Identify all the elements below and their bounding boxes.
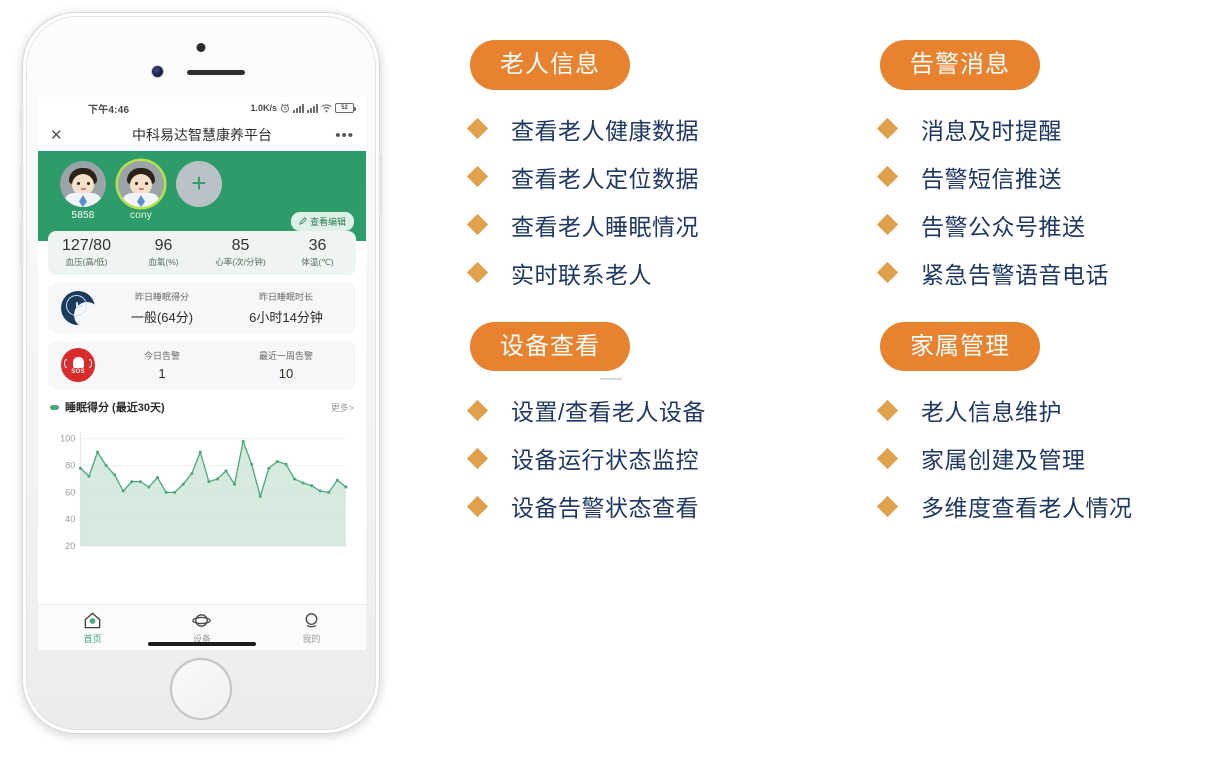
section-title-pill: 家属管理 xyxy=(880,322,1040,372)
section-title-pill: 设备查看 xyxy=(470,322,630,372)
list-item: 设备告警状态查看 xyxy=(470,489,880,523)
avatar xyxy=(60,161,106,207)
list-item-label: 实时联系老人 xyxy=(511,256,652,290)
section-family-management: 家属管理 老人信息维护 家属创建及管理 多维度查看老人情况 xyxy=(880,322,1205,538)
status-time: 下午4:46 xyxy=(88,101,129,116)
list-item: 消息及时提醒 xyxy=(880,112,1205,146)
avatar xyxy=(118,161,164,207)
list-item-label: 设置/查看老人设备 xyxy=(511,393,706,427)
diamond-bullet-icon xyxy=(467,166,488,187)
app-title: 中科易达智慧康养平台 xyxy=(38,125,366,145)
avatar-item[interactable]: 5858 xyxy=(60,161,106,221)
feature-row-bottom: 设备查看 设置/查看老人设备 设备运行状态监控 设备告警状态查看 家属管理 老人… xyxy=(470,322,1205,538)
home-indicator xyxy=(148,642,256,646)
list-item-label: 告警公众号推送 xyxy=(921,208,1086,242)
svg-text:40: 40 xyxy=(65,514,75,524)
vital-value: 127/80 xyxy=(48,237,125,255)
vital-blood-pressure: 127/80 血压(高/低) xyxy=(48,237,125,268)
feature-sections: 老人信息 查看老人健康数据 查看老人定位数据 查看老人睡眠情况 实时联系老人 告… xyxy=(470,40,1205,537)
view-edit-label: 查看编辑 xyxy=(310,215,346,228)
app-navbar: ✕ 中科易达智慧康养平台 ••• xyxy=(38,119,366,151)
diamond-bullet-icon xyxy=(877,214,898,235)
status-bar: 下午4:46 1.0K/s 52 xyxy=(38,97,366,119)
diamond-bullet-icon xyxy=(467,448,488,469)
phone-volume-down-button xyxy=(20,221,24,267)
alarm-summary-card[interactable]: SOS 今日告警 1 最近一周告警 10 xyxy=(48,341,356,389)
phone-power-button xyxy=(378,153,382,215)
sleep-summary-card[interactable]: 昨日睡眠得分 一般(64分) 昨日睡眠时长 6小时14分钟 xyxy=(48,283,356,333)
list-item-label: 老人信息维护 xyxy=(921,393,1062,427)
list-item-label: 查看老人健康数据 xyxy=(511,112,699,146)
diamond-bullet-icon xyxy=(877,166,898,187)
list-item: 实时联系老人 xyxy=(470,256,880,290)
diamond-bullet-icon xyxy=(467,400,488,421)
list-item: 查看老人睡眠情况 xyxy=(470,208,880,242)
profile-icon xyxy=(257,611,366,631)
home-icon xyxy=(38,611,147,631)
list-item-label: 紧急告警语音电话 xyxy=(921,256,1109,290)
phone-screen: 下午4:46 1.0K/s 52 ✕ 中科易达智慧康养平台 xyxy=(38,97,366,650)
feature-row-top: 老人信息 查看老人健康数据 查看老人定位数据 查看老人睡眠情况 实时联系老人 告… xyxy=(470,40,1205,304)
section-elder-info: 老人信息 查看老人健康数据 查看老人定位数据 查看老人睡眠情况 实时联系老人 xyxy=(470,40,880,304)
vital-blood-oxygen: 96 血氧(%) xyxy=(125,237,202,268)
battery-level-label: 52 xyxy=(341,105,348,111)
diamond-bullet-icon xyxy=(877,496,898,517)
wifi-icon xyxy=(321,103,332,113)
vital-label: 血氧(%) xyxy=(125,256,202,268)
tab-home[interactable]: 首页 xyxy=(38,611,147,645)
profile-header: 5858 cony + 查看编辑 xyxy=(38,151,366,241)
more-options-icon[interactable]: ••• xyxy=(335,127,354,144)
section-title-pill: 老人信息 xyxy=(470,40,630,90)
vital-label: 心率(次/分钟) xyxy=(202,256,279,268)
section-alarm-message: 告警消息 消息及时提醒 告警短信推送 告警公众号推送 紧急告警语音电话 xyxy=(880,40,1205,304)
section-bullets: 消息及时提醒 告警短信推送 告警公众号推送 紧急告警语音电话 xyxy=(880,112,1205,290)
sleep-score-chart: 10080604020 xyxy=(48,420,356,552)
sleep-score-value: 一般(64分) xyxy=(100,307,224,326)
add-elder-button[interactable]: + xyxy=(176,161,222,207)
list-item-label: 消息及时提醒 xyxy=(921,112,1062,146)
sleep-score-column: 昨日睡眠得分 一般(64分) xyxy=(100,290,224,326)
pencil-icon xyxy=(299,217,307,227)
diamond-bullet-icon xyxy=(467,262,488,283)
chart-title: 睡眠得分 (最近30天) xyxy=(65,399,165,415)
svg-text:80: 80 xyxy=(65,461,75,471)
list-item-label: 多维度查看老人情况 xyxy=(921,489,1133,523)
tab-device[interactable]: 设备 xyxy=(147,611,256,645)
list-item: 查看老人健康数据 xyxy=(470,112,880,146)
list-item: 告警公众号推送 xyxy=(880,208,1205,242)
diamond-bullet-icon xyxy=(877,400,898,421)
list-item-label: 设备告警状态查看 xyxy=(511,489,699,523)
vital-value: 96 xyxy=(125,237,202,255)
list-item-label: 查看老人定位数据 xyxy=(511,160,699,194)
week-alarm-column: 最近一周告警 10 xyxy=(224,349,348,381)
vital-heart-rate: 85 心率(次/分钟) xyxy=(202,237,279,268)
section-title-pill: 告警消息 xyxy=(880,40,1040,90)
avatar-item-selected[interactable]: cony xyxy=(118,161,164,221)
list-item: 紧急告警语音电话 xyxy=(880,256,1205,290)
list-item-label: 查看老人睡眠情况 xyxy=(511,208,699,242)
diamond-bullet-icon xyxy=(877,118,898,139)
svg-text:20: 20 xyxy=(65,541,75,551)
front-camera-icon xyxy=(152,66,163,77)
earpiece-speaker xyxy=(187,70,245,75)
svg-text:100: 100 xyxy=(60,434,75,444)
list-item: 查看老人定位数据 xyxy=(470,160,880,194)
avatar-name: cony xyxy=(118,210,164,221)
tab-home-label: 首页 xyxy=(38,632,147,645)
chart-more-link[interactable]: 更多> xyxy=(331,401,354,414)
today-alarm-label: 今日告警 xyxy=(100,349,224,362)
svg-text:60: 60 xyxy=(65,487,75,497)
bottom-tabbar: 首页 设备 我的 xyxy=(38,604,366,650)
vitals-panel: 127/80 血压(高/低) 96 血氧(%) 85 心率(次/分钟) 36 体… xyxy=(48,231,356,275)
list-item: 老人信息维护 xyxy=(880,393,1205,427)
sleep-score-label: 昨日睡眠得分 xyxy=(100,290,224,303)
phone-mute-switch xyxy=(20,105,24,131)
section-bullets: 查看老人健康数据 查看老人定位数据 查看老人睡眠情况 实时联系老人 xyxy=(470,112,880,290)
chart-header: 睡眠得分 (最近30天) 更多> xyxy=(50,399,354,415)
signal-bars-icon xyxy=(293,104,304,113)
battery-icon: 52 xyxy=(335,103,354,113)
slide-root: 下午4:46 1.0K/s 52 ✕ 中科易达智慧康养平台 xyxy=(0,0,1215,775)
vital-temperature: 36 体温(℃) xyxy=(279,237,356,268)
device-icon xyxy=(147,611,256,631)
tab-profile[interactable]: 我的 xyxy=(257,611,366,645)
moon-clock-icon xyxy=(56,291,100,325)
avatar-name: 5858 xyxy=(60,210,106,221)
today-alarm-value: 1 xyxy=(100,366,224,381)
week-alarm-label: 最近一周告警 xyxy=(224,349,348,362)
phone-mockup: 下午4:46 1.0K/s 52 ✕ 中科易达智慧康养平台 xyxy=(22,12,380,734)
list-item-label: 设备运行状态监控 xyxy=(511,441,699,475)
sleep-duration-value: 6小时14分钟 xyxy=(224,307,348,326)
diamond-bullet-icon xyxy=(467,118,488,139)
sleep-duration-column: 昨日睡眠时长 6小时14分钟 xyxy=(224,290,348,326)
list-item: 设备运行状态监控 xyxy=(470,441,880,475)
week-alarm-value: 10 xyxy=(224,366,348,381)
diamond-bullet-icon xyxy=(467,214,488,235)
status-icons: 1.0K/s 52 xyxy=(250,103,354,113)
alarm-clock-icon xyxy=(280,103,290,113)
list-item: 设置/查看老人设备 xyxy=(470,393,880,427)
list-item: 多维度查看老人情况 xyxy=(880,489,1205,523)
sleep-duration-label: 昨日睡眠时长 xyxy=(224,290,348,303)
signal-bars-icon xyxy=(307,104,318,113)
vital-value: 85 xyxy=(202,237,279,255)
section-device-view: 设备查看 设置/查看老人设备 设备运行状态监控 设备告警状态查看 xyxy=(470,322,880,538)
sos-bell-icon: SOS xyxy=(56,348,100,382)
vital-value: 36 xyxy=(279,237,356,255)
vital-label: 体温(℃) xyxy=(279,256,356,268)
vital-label: 血压(高/低) xyxy=(48,256,125,268)
list-item: 家属创建及管理 xyxy=(880,441,1205,475)
diamond-bullet-icon xyxy=(467,496,488,517)
view-edit-button[interactable]: 查看编辑 xyxy=(291,212,354,231)
tab-profile-label: 我的 xyxy=(257,632,366,645)
legend-marker-icon xyxy=(50,405,59,410)
network-speed-label: 1.0K/s xyxy=(250,103,277,113)
phone-volume-up-button xyxy=(20,163,24,209)
list-item-label: 告警短信推送 xyxy=(921,160,1062,194)
list-item-label: 家属创建及管理 xyxy=(921,441,1086,475)
section-bullets: 老人信息维护 家属创建及管理 多维度查看老人情况 xyxy=(880,393,1205,523)
section-bullets: 设置/查看老人设备 设备运行状态监控 设备告警状态查看 xyxy=(470,393,880,523)
list-item: 告警短信推送 xyxy=(880,160,1205,194)
proximity-sensor-icon xyxy=(197,43,206,52)
diamond-bullet-icon xyxy=(877,262,898,283)
diamond-bullet-icon xyxy=(877,448,898,469)
today-alarm-column: 今日告警 1 xyxy=(100,349,224,381)
home-button[interactable] xyxy=(170,658,232,720)
